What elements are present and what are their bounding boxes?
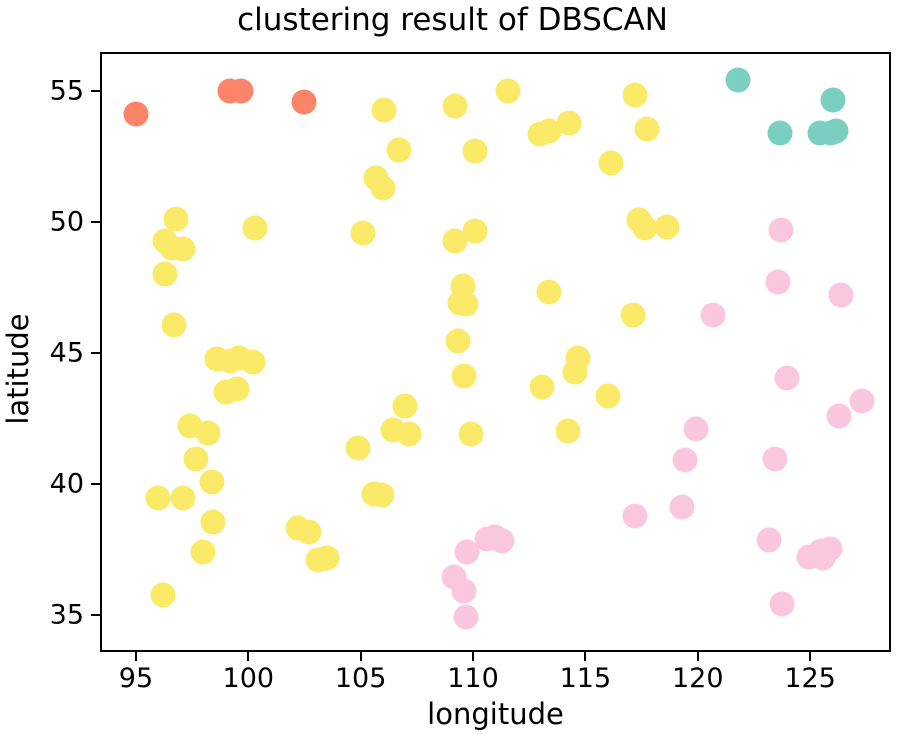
data-point [161, 313, 186, 338]
chart-figure: clustering result of DBSCAN 951001051101… [0, 0, 905, 745]
scatter-plot-area [100, 52, 891, 652]
data-point [346, 436, 371, 461]
data-point [451, 364, 476, 389]
data-point [655, 214, 680, 239]
data-point [530, 374, 555, 399]
data-point [766, 269, 791, 294]
data-point [201, 509, 226, 534]
y-tick-mark [91, 221, 100, 223]
data-point [821, 87, 846, 112]
x-tick-mark [809, 652, 811, 661]
data-point [229, 78, 254, 103]
data-point [381, 417, 406, 442]
data-point [725, 68, 750, 93]
data-point [152, 262, 177, 287]
data-point [370, 175, 395, 200]
y-tick-label: 35 [50, 600, 84, 631]
data-point [350, 221, 375, 246]
x-axis-label: longitude [100, 697, 891, 731]
x-tick-label: 95 [119, 663, 153, 694]
x-tick-mark [135, 652, 137, 661]
data-point [454, 605, 479, 630]
data-point [489, 529, 514, 554]
data-point [632, 216, 657, 241]
data-point [823, 119, 848, 144]
data-point [849, 389, 874, 414]
x-tick-label: 115 [560, 663, 612, 694]
data-point [150, 583, 175, 608]
data-point [372, 98, 397, 123]
y-tick-mark [91, 352, 100, 354]
data-point [170, 486, 195, 511]
data-point [621, 302, 646, 327]
data-point [463, 218, 488, 243]
x-tick-label: 105 [335, 663, 387, 694]
data-point [598, 150, 623, 175]
x-tick-mark [472, 652, 474, 661]
page-title: clustering result of DBSCAN [0, 2, 905, 38]
data-point [701, 302, 726, 327]
data-point [195, 420, 220, 445]
data-point [146, 486, 171, 511]
data-point [463, 138, 488, 163]
data-point [769, 592, 794, 617]
x-tick-label: 100 [223, 663, 275, 694]
data-point [763, 446, 788, 471]
data-point [827, 403, 852, 428]
data-point [314, 546, 339, 571]
x-tick-mark [584, 652, 586, 661]
data-point [757, 528, 782, 553]
data-point [191, 539, 216, 564]
y-tick-label: 55 [50, 76, 84, 107]
data-point [557, 111, 582, 136]
y-tick-label: 40 [50, 469, 84, 500]
y-tick-mark [91, 483, 100, 485]
data-point [684, 416, 709, 441]
data-point [240, 349, 265, 374]
data-point [170, 237, 195, 262]
data-point [809, 538, 834, 563]
data-point [622, 504, 647, 529]
x-tick-label: 125 [784, 663, 836, 694]
x-tick-label: 110 [447, 663, 499, 694]
y-axis-label: latitude [1, 269, 35, 469]
data-point [495, 78, 520, 103]
data-point [622, 82, 647, 107]
data-point [537, 280, 562, 305]
y-tick-label: 45 [50, 338, 84, 369]
data-point [123, 102, 148, 127]
data-point [442, 94, 467, 119]
data-point [634, 116, 659, 141]
data-point [454, 292, 479, 317]
data-point [242, 216, 267, 241]
data-point [164, 207, 189, 232]
data-point [446, 328, 471, 353]
data-point [369, 483, 394, 508]
data-point [673, 448, 698, 473]
data-point [768, 217, 793, 242]
data-point [775, 365, 800, 390]
data-point [393, 394, 418, 419]
data-point [767, 120, 792, 145]
data-point [458, 421, 483, 446]
x-tick-label: 120 [672, 663, 724, 694]
data-point [296, 520, 321, 545]
data-point [556, 419, 581, 444]
y-tick-label: 50 [50, 207, 84, 238]
data-point [184, 446, 209, 471]
x-tick-mark [360, 652, 362, 661]
data-point [200, 470, 225, 495]
data-point [224, 377, 249, 402]
data-point [451, 579, 476, 604]
data-point [386, 137, 411, 162]
y-tick-mark [91, 614, 100, 616]
data-point [829, 283, 854, 308]
data-point [292, 90, 317, 115]
x-tick-mark [697, 652, 699, 661]
data-point [563, 360, 588, 385]
data-point [669, 495, 694, 520]
y-tick-mark [91, 90, 100, 92]
data-point [595, 383, 620, 408]
x-tick-mark [247, 652, 249, 661]
